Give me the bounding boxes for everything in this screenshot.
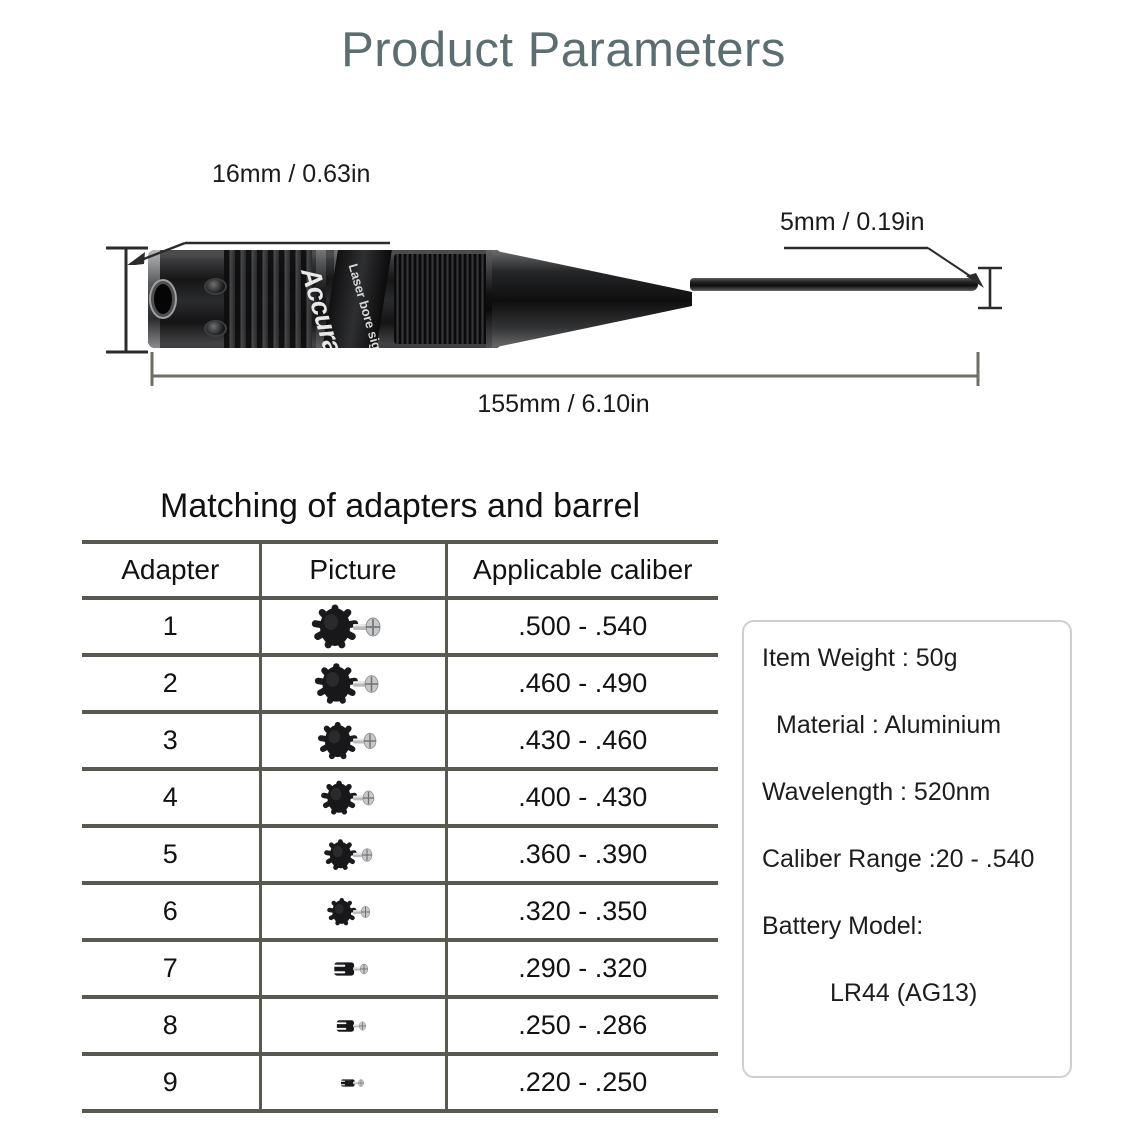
- cell-adapter-picture: [260, 655, 446, 712]
- page-title: Product Parameters: [0, 22, 1127, 78]
- table-row: 7.290 - .320: [82, 940, 718, 997]
- cell-adapter-picture: [260, 940, 446, 997]
- column-header-adapter: Adapter: [82, 542, 260, 598]
- cell-adapter-number: 8: [82, 997, 260, 1054]
- adapter-fluted-cone-icon: [305, 604, 401, 650]
- set-screw-icon: [206, 280, 225, 293]
- table-row: 6.320 - .350: [82, 883, 718, 940]
- dimension-label-diameter: 16mm / 0.63in: [212, 160, 370, 189]
- spec-material: Material : Aluminium: [744, 711, 1070, 740]
- cell-applicable-caliber: .430 - .460: [446, 712, 718, 769]
- cell-adapter-number: 2: [82, 655, 260, 712]
- cell-applicable-caliber: .460 - .490: [446, 655, 718, 712]
- cell-adapter-number: 7: [82, 940, 260, 997]
- cell-applicable-caliber: .400 - .430: [446, 769, 718, 826]
- adapter-slotted-icon: [305, 1003, 401, 1049]
- cell-adapter-picture: [260, 997, 446, 1054]
- rear-knurl: [394, 254, 496, 344]
- column-header-picture: Picture: [260, 542, 446, 598]
- table-row: 2.460 - .490: [82, 655, 718, 712]
- cell-adapter-picture: [260, 826, 446, 883]
- table-header-row: Adapter Picture Applicable caliber: [82, 542, 718, 598]
- adapter-table: Adapter Picture Applicable caliber 1.500…: [82, 540, 718, 1113]
- adapter-fluted-cone-icon: [305, 661, 401, 707]
- cell-adapter-picture: [260, 712, 446, 769]
- spec-item-weight: Item Weight : 50g: [744, 644, 1070, 673]
- cell-adapter-picture: [260, 883, 446, 940]
- dimension-label-tip: 5mm / 0.19in: [780, 208, 925, 237]
- table-row: 4.400 - .430: [82, 769, 718, 826]
- adapter-cylinder-icon: [305, 1060, 401, 1106]
- adapter-fluted-cone-icon: [305, 889, 401, 935]
- cell-adapter-number: 3: [82, 712, 260, 769]
- adapter-fluted-cone-icon: [305, 718, 401, 764]
- dimension-leader-tip: [780, 238, 1000, 298]
- dimension-label-length: 155mm / 6.10in: [0, 390, 1127, 419]
- taper-cone: [492, 248, 696, 350]
- spec-battery-label: Battery Model:: [744, 912, 1070, 941]
- adapter-slotted-icon: [305, 946, 401, 992]
- cell-applicable-caliber: .360 - .390: [446, 826, 718, 883]
- spec-wavelength: Wavelength : 520nm: [744, 778, 1070, 807]
- cell-applicable-caliber: .250 - .286: [446, 997, 718, 1054]
- dimension-extent-length: [140, 338, 990, 386]
- cell-adapter-number: 4: [82, 769, 260, 826]
- specifications-box: Item Weight : 50g Material : Aluminium W…: [742, 620, 1072, 1078]
- table-row: 1.500 - .540: [82, 598, 718, 655]
- cell-adapter-number: 6: [82, 883, 260, 940]
- cell-adapter-number: 9: [82, 1054, 260, 1111]
- column-header-caliber: Applicable caliber: [446, 542, 718, 598]
- cell-adapter-number: 1: [82, 598, 260, 655]
- cell-adapter-picture: [260, 598, 446, 655]
- cell-applicable-caliber: .220 - .250: [446, 1054, 718, 1111]
- muzzle-aperture-icon: [154, 284, 172, 314]
- cell-applicable-caliber: .290 - .320: [446, 940, 718, 997]
- cell-adapter-picture: [260, 769, 446, 826]
- table-heading: Matching of adapters and barrel: [160, 487, 640, 526]
- adapter-fluted-cone-icon: [305, 775, 401, 821]
- table-row: 3.430 - .460: [82, 712, 718, 769]
- cell-applicable-caliber: .320 - .350: [446, 883, 718, 940]
- table-row: 9.220 - .250: [82, 1054, 718, 1111]
- product-figure: Accura Laser bore sight 16mm / 0.63in: [0, 140, 1127, 440]
- dimension-extent-tip: [972, 262, 1008, 318]
- cell-adapter-picture: [260, 1054, 446, 1111]
- spec-battery-value: LR44 (AG13): [744, 979, 1070, 1008]
- spec-caliber-range: Caliber Range :20 - .540: [744, 845, 1070, 874]
- set-screw-icon: [206, 322, 225, 335]
- cell-applicable-caliber: .500 - .540: [446, 598, 718, 655]
- cell-adapter-number: 5: [82, 826, 260, 883]
- adapter-fluted-cone-icon: [305, 832, 401, 878]
- table-row: 5.360 - .390: [82, 826, 718, 883]
- table-row: 8.250 - .286: [82, 997, 718, 1054]
